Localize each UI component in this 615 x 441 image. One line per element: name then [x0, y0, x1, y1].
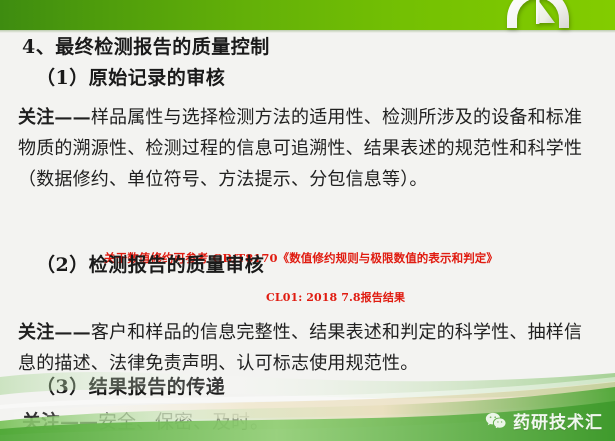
- watermark-label: 药研技术汇: [513, 408, 603, 433]
- section-lead-2: 关注——: [18, 322, 91, 343]
- page-title: 4、最终检测报告的质量控制: [22, 32, 270, 59]
- slide-content: 4、最终检测报告的质量控制 （1）原始记录的审核 关注——样品属性与选择检测方法…: [0, 30, 615, 441]
- section-red-note-2: CL01: 2018 7.8报告结果: [266, 289, 405, 305]
- section-lead-3: 关注——: [22, 411, 98, 433]
- section-lead-1: 关注——: [18, 107, 91, 128]
- section-text-1: 样品属性与选择检测方法的适用性、检测所涉及的设备和标准物质的溯源性、检测过程的信…: [18, 107, 582, 190]
- section-title-2: （2）检测报告的质量审核: [36, 250, 264, 277]
- section-title-1: （1）原始记录的审核: [36, 63, 225, 90]
- section-body-1: 关注——样品属性与选择检测方法的适用性、检测所涉及的设备和标准物质的溯源性、检测…: [18, 102, 598, 195]
- wechat-icon: [485, 412, 507, 430]
- section-text-2: 客户和样品的信息完整性、结果表述和判定的科学性、抽样信息的描述、法律免责声明、认…: [18, 322, 582, 374]
- slide-canvas: 4、最终检测报告的质量控制 （1）原始记录的审核 关注——样品属性与选择检测方法…: [0, 0, 615, 441]
- watermark: 药研技术汇: [485, 408, 603, 433]
- section-text-3: 安全、保密、及时。: [98, 411, 269, 433]
- section-body-3: 关注——安全、保密、及时。: [22, 407, 269, 434]
- section-title-3: （3）结果报告的传递: [36, 372, 225, 399]
- section-body-2: 关注——客户和样品的信息完整性、结果表述和判定的科学性、抽样信息的描述、法律免责…: [18, 317, 598, 379]
